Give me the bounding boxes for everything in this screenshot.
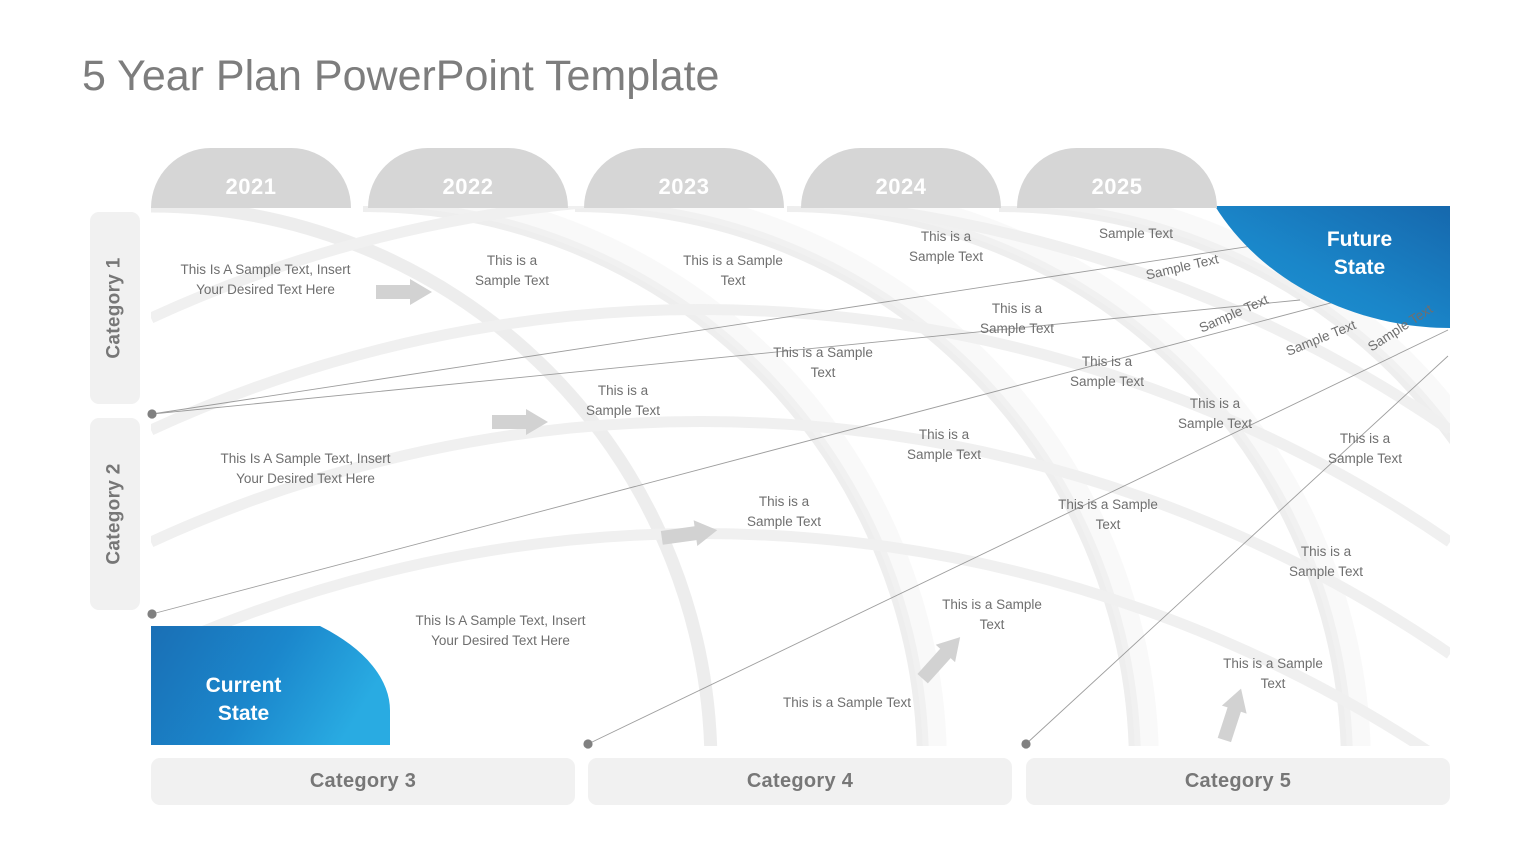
year-label-2025: 2025	[1017, 174, 1217, 200]
sample-text-t21: This is a Sample Text	[925, 595, 1059, 634]
sample-text-t20: This is a Sample Text	[1266, 542, 1386, 581]
sample-text-t11: Sample Text	[1283, 315, 1359, 361]
sample-text-t15: This is a Sample Text	[884, 425, 1004, 464]
year-label-2024: 2024	[801, 174, 1001, 200]
sample-text-t08: This is a Sample Text	[756, 343, 890, 382]
page-title: 5 Year Plan PowerPoint Template	[82, 52, 719, 101]
sample-text-t04: This is a Sample Text	[886, 227, 1006, 266]
side-category-2-label: Category 2	[104, 463, 126, 564]
arrow-right-1	[376, 279, 432, 305]
arrow-up-2	[1212, 685, 1253, 744]
slide-canvas: 5 Year Plan PowerPoint Template	[0, 0, 1536, 864]
bottom-category-5[interactable]: Category 5	[1026, 758, 1450, 805]
side-category-1-label: Category 1	[104, 257, 126, 358]
side-category-2[interactable]: Category 2	[90, 418, 140, 610]
year-label-2023: 2023	[584, 174, 784, 200]
sample-text-t13: This is a Sample Text	[563, 381, 683, 420]
sample-text-t12: Sample Text	[1364, 307, 1425, 356]
sample-text-t03: This is a Sample Text	[666, 251, 800, 290]
sample-text-t17: This is a Sample Text	[1305, 429, 1425, 468]
sample-text-t10: Sample Text	[1196, 290, 1272, 338]
bottom-category-4[interactable]: Category 4	[588, 758, 1012, 805]
arrow-right-3	[660, 517, 719, 551]
sample-text-t01: This Is A Sample Text, Insert Your Desir…	[160, 260, 371, 299]
bottom-category-3[interactable]: Category 3	[151, 758, 575, 805]
sample-text-t06: This is a Sample Text	[957, 299, 1077, 338]
sample-text-t19: This is a Sample Text	[1041, 495, 1175, 534]
sample-text-t18: This is a Sample Text	[724, 492, 844, 531]
sample-text-t02: This is a Sample Text	[452, 251, 572, 290]
current-state-label: Current State	[176, 672, 311, 727]
sample-text-t14: This is a Sample Text	[1155, 394, 1275, 433]
side-category-1[interactable]: Category 1	[90, 212, 140, 404]
sample-text-t23: This is a Sample Text	[1206, 654, 1340, 693]
sample-text-t07: Sample Text	[1144, 249, 1221, 285]
sample-text-t05: Sample Text	[1076, 224, 1196, 244]
sample-text-t25: This is a Sample Text	[767, 693, 927, 713]
arrow-up-1	[913, 628, 970, 687]
arrow-right-2	[492, 409, 548, 435]
year-label-2021: 2021	[151, 174, 351, 200]
sample-text-t22: This Is A Sample Text, Insert Your Desir…	[395, 611, 606, 650]
year-label-2022: 2022	[368, 174, 568, 200]
future-state-label: Future State	[1292, 226, 1427, 281]
sample-text-t16: This Is A Sample Text, Insert Your Desir…	[200, 449, 411, 488]
sample-text-t09: This is a Sample Text	[1047, 352, 1167, 391]
